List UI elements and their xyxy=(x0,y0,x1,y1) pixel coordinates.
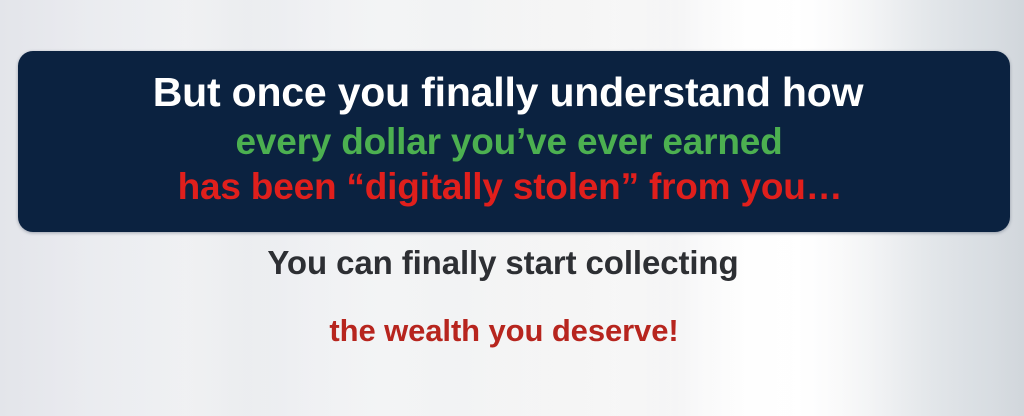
headline-line-3: has been “digitally stolen” from you… xyxy=(178,168,851,205)
headline-panel: But once you finally understand how ever… xyxy=(18,51,1010,232)
promo-slide: But once you finally understand how ever… xyxy=(0,0,1024,416)
sub-message-line-2: the wealth you deserve! xyxy=(0,315,1024,346)
sub-message-block: You can finally start collecting the wea… xyxy=(0,246,1024,346)
sub-message-line-1: You can finally start collecting xyxy=(0,246,1024,279)
headline-line-1: But once you finally understand how xyxy=(153,72,876,113)
headline-line-2: every dollar you’ve ever earned xyxy=(235,123,792,160)
